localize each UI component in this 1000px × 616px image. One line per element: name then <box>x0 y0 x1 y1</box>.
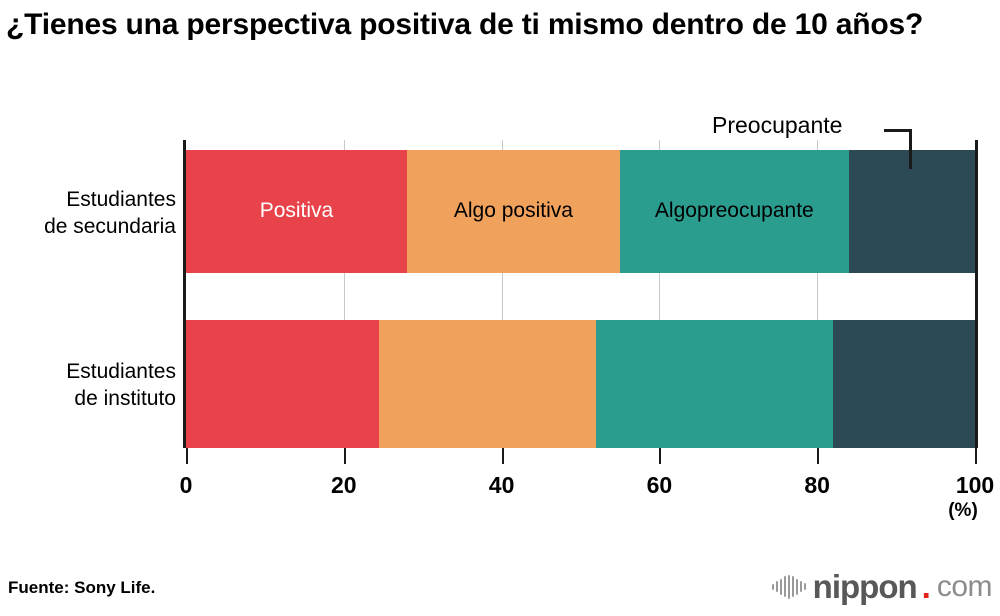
waveform-bar <box>796 579 798 595</box>
stacked-bar-instituto <box>186 320 975 448</box>
category-label-instituto: Estudiantes de instituto <box>0 358 176 413</box>
brand-dot: . <box>922 570 931 603</box>
bar-segment-algo-positiva[interactable]: Algo positiva <box>407 150 620 273</box>
x-axis-tick-mark <box>659 448 661 464</box>
waveform-bar <box>788 575 790 599</box>
x-axis-tick-mark <box>817 448 819 464</box>
bar-segment-algo-preocupante[interactable]: Algopreocupante <box>620 150 849 273</box>
x-axis-tick-label: 20 <box>309 472 379 499</box>
waveform-bar <box>784 576 786 597</box>
bar-segment-algo-preocupante[interactable] <box>596 320 833 448</box>
category-label-secundaria: Estudiantes de secundaria <box>0 186 176 241</box>
waveform-bar <box>804 583 806 590</box>
plot-area: PositivaAlgo positivaAlgopreocupante <box>186 140 975 448</box>
waveform-bar <box>800 581 802 592</box>
waveform-bar <box>772 584 774 590</box>
waveform-bar <box>792 576 794 597</box>
category-label-line: de secundaria <box>0 213 176 240</box>
x-axis-tick-mark <box>502 448 504 464</box>
brand-tld: com <box>937 572 992 602</box>
axis-unit-label: (%) <box>933 500 993 522</box>
waveform-bar <box>776 581 778 592</box>
bar-segment-label: Algo <box>655 199 697 224</box>
callout-label-preocupante: Preocupante <box>712 112 842 139</box>
page-title: ¿Tienes una perspectiva positiva de ti m… <box>6 6 986 44</box>
bar-segment-algo-positiva[interactable] <box>379 320 596 448</box>
x-axis-tick-label: 100 <box>940 472 1000 499</box>
nippon-com-logo[interactable]: nippon . com <box>772 570 992 603</box>
bar-segment-positiva[interactable]: Positiva <box>186 150 407 273</box>
stacked-bar-secundaria: PositivaAlgo positivaAlgopreocupante <box>186 150 975 273</box>
brand-name: nippon <box>813 570 917 603</box>
x-axis-tick-label: 40 <box>467 472 537 499</box>
bar-segment-label: Positiva <box>260 199 334 224</box>
waveform-bar <box>780 579 782 595</box>
category-label-line: de instituto <box>0 385 176 412</box>
callout-leader-line-horizontal <box>884 129 912 132</box>
x-axis-tick-mark <box>186 448 188 464</box>
bar-segment-label: Algo positiva <box>454 199 573 224</box>
callout-leader-line-vertical <box>909 129 912 169</box>
x-axis-tick-label: 60 <box>624 472 694 499</box>
source-note: Fuente: Sony Life. <box>8 578 155 598</box>
bar-segment-preocupante[interactable] <box>833 320 975 448</box>
x-axis-tick-label: 0 <box>151 472 221 499</box>
bar-segment-positiva[interactable] <box>186 320 379 448</box>
bar-segment-label: preocupante <box>697 199 814 224</box>
x-axis-tick-label: 80 <box>782 472 852 499</box>
category-label-line: Estudiantes <box>0 358 176 385</box>
x-axis-tick-mark <box>344 448 346 464</box>
waveform-icon <box>772 574 806 600</box>
x-axis-tick-mark <box>975 448 977 464</box>
category-label-line: Estudiantes <box>0 186 176 213</box>
axis-right-line <box>975 140 978 448</box>
